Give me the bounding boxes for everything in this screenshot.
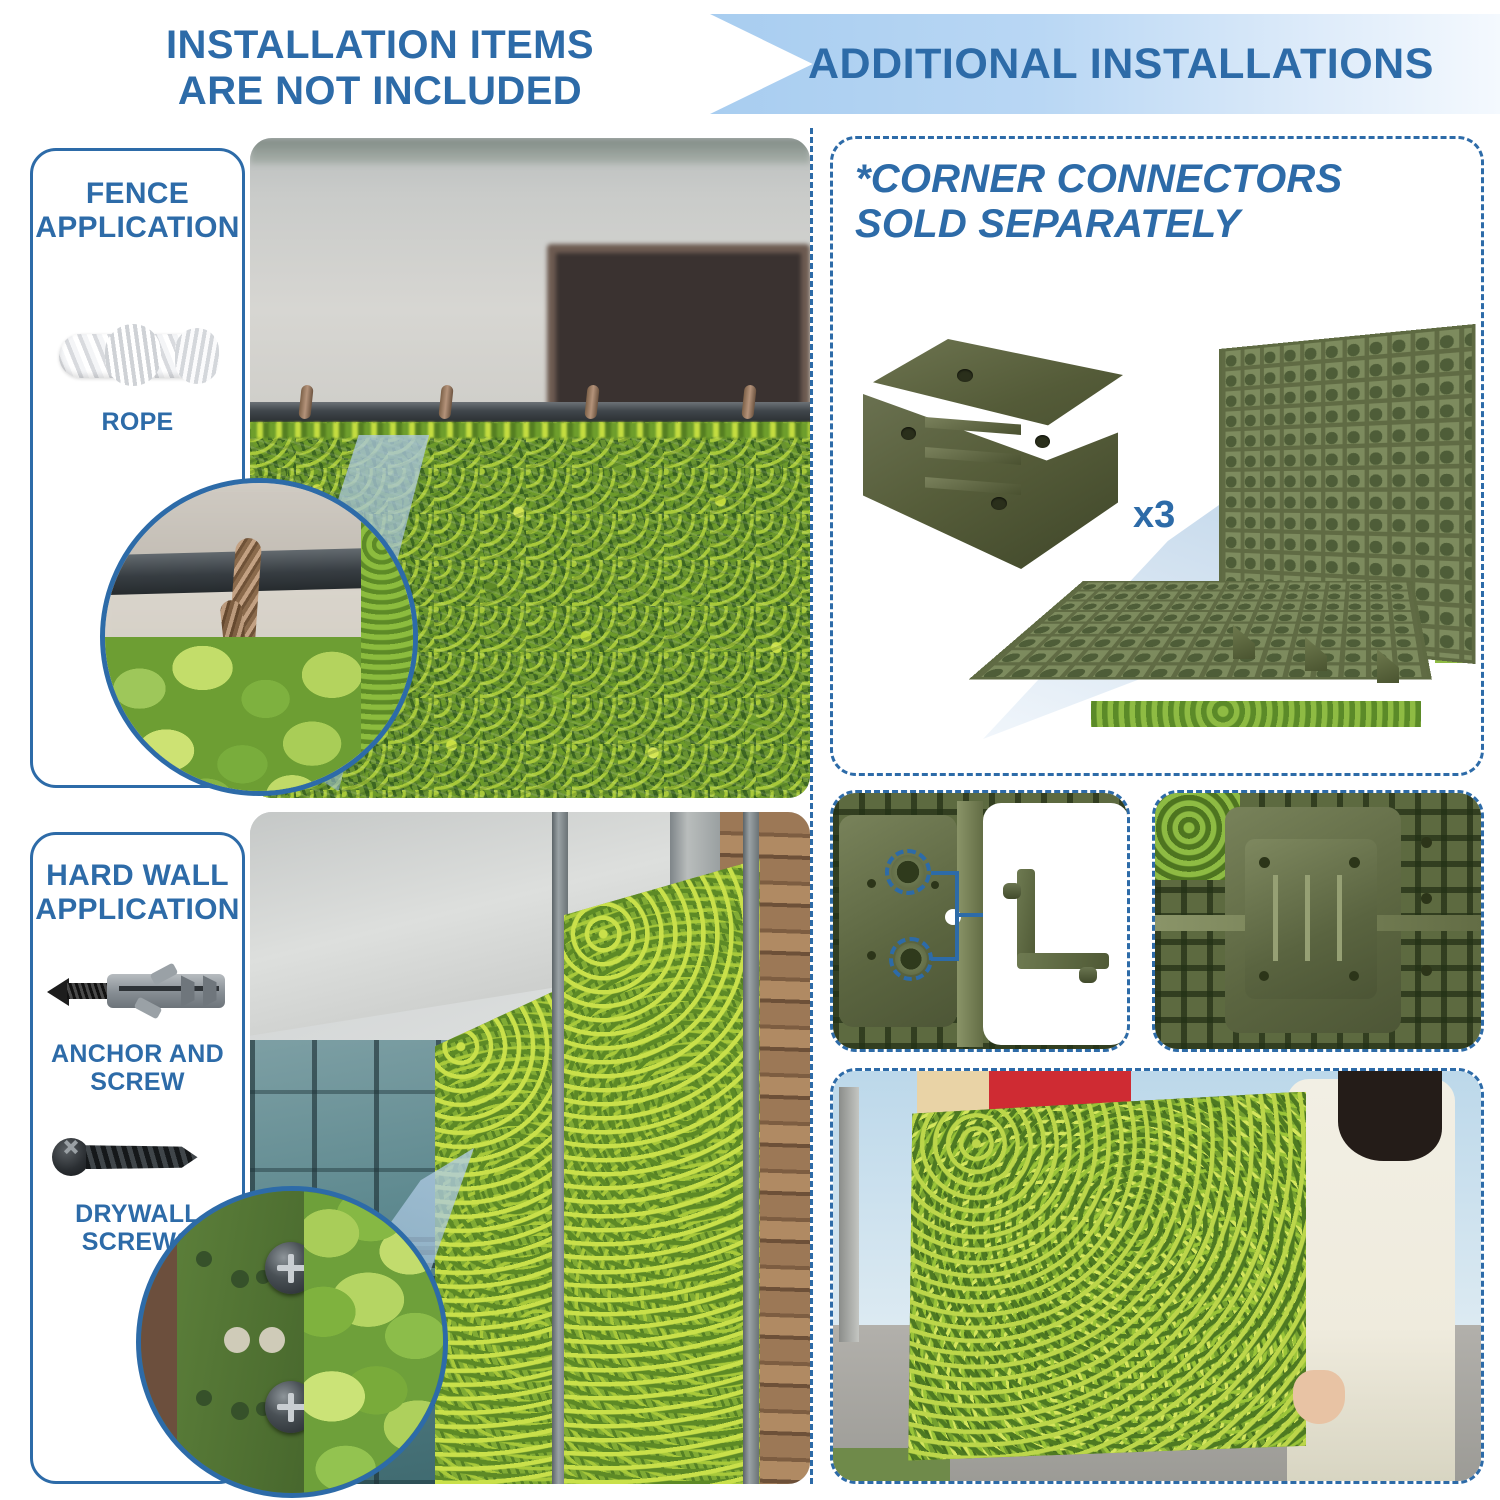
photo-carried-hedge-panel (904, 1092, 1306, 1461)
photo-person-hand (1293, 1370, 1345, 1423)
detail-b-hole-2 (1349, 857, 1360, 868)
detail-a-panel-rail (957, 801, 983, 1047)
fence-title-line1: FENCE (35, 177, 239, 211)
photo-metal-post-right (743, 812, 759, 1484)
corner-title-line2: SOLD SEPARATELY (855, 202, 1465, 247)
bracket-hole-top (957, 369, 973, 382)
banner-additional-installations: ADDITIONAL INSTALLATIONS (710, 14, 1500, 114)
detail-a-bracket-peg-top (1003, 883, 1021, 899)
anchor-and-screw-label: ANCHOR AND SCREW (51, 1040, 224, 1096)
photo-light-pole (839, 1087, 858, 1341)
connection-holes-detail-panel (830, 790, 1130, 1052)
fence-closeup-inset (100, 478, 418, 796)
detail-b-bracket-rib-1 (1273, 875, 1278, 961)
photo-top-shadow (250, 138, 810, 164)
hard-wall-title: HARD WALL APPLICATION (35, 859, 239, 926)
wall-title-line2: APPLICATION (35, 893, 239, 927)
assembly-horizontal-panel (969, 581, 1432, 679)
anchor-and-screw-icon (47, 966, 229, 1018)
inset-right-hedge-edge (361, 483, 413, 791)
banner-label: ADDITIONAL INSTALLATIONS (808, 40, 1434, 89)
corner-title-line1: *CORNER CONNECTORS (855, 157, 1465, 202)
bracket-hole-left (901, 427, 916, 440)
anchor-label-line2: SCREW (51, 1068, 224, 1096)
anchor-label-line1: ANCHOR AND (51, 1040, 224, 1068)
bracket-hole-bottom (991, 497, 1007, 510)
detail-a-white-backdrop (983, 803, 1129, 1045)
detail-b-hole-5 (1421, 837, 1432, 848)
infographic-root: INSTALLATION ITEMS ARE NOT INCLUDED ADDI… (0, 0, 1500, 1500)
fence-title-line2: APPLICATION (35, 211, 239, 245)
wall-title-line1: HARD WALL (35, 859, 239, 893)
photo-green-panel-left (435, 987, 564, 1484)
detail-a-panel-plate (839, 815, 957, 1027)
assembly-foliage-bottom-edge (1091, 701, 1421, 727)
photo-railing (250, 402, 810, 422)
inset-hole-3 (231, 1270, 249, 1288)
photo-green-panel-right (564, 859, 760, 1484)
detail-b-hole-6 (1421, 893, 1432, 904)
inset-lightdot-1 (224, 1327, 250, 1353)
detail-a-smallhole-1 (867, 879, 876, 888)
person-holding-panel-photo (830, 1068, 1484, 1484)
rope-label: ROPE (101, 408, 173, 436)
detail-a-smallhole-2 (867, 951, 876, 960)
corner-connectors-card: *CORNER CONNECTORS SOLD SEPARATELY x3 (830, 136, 1484, 776)
vertical-divider (810, 128, 813, 1484)
wall-closeup-inset (136, 1186, 448, 1498)
detail-a-smallhole-3 (931, 881, 939, 889)
detail-b-bracket-rib-3 (1337, 875, 1342, 961)
detail-b-bracket-rib-2 (1305, 875, 1310, 961)
photo-person-hair (1338, 1071, 1442, 1161)
drywall-screw-icon (52, 1134, 224, 1180)
inset-hole-5 (231, 1402, 249, 1420)
detail-a-bracket-peg-bottom (1079, 967, 1097, 983)
inset-hole-1 (196, 1251, 212, 1267)
fence-application-title: FENCE APPLICATION (35, 177, 239, 244)
page-title-line1: INSTALLATION ITEMS (60, 22, 700, 68)
bracket-hole-right (1035, 435, 1050, 448)
photo-hedge-top-edge (250, 422, 810, 438)
corner-assembly-illustration (1073, 349, 1473, 749)
detail-b-hole-1 (1259, 857, 1270, 868)
inset-wall-foliage (304, 1191, 443, 1493)
inset-hole-2 (196, 1390, 212, 1406)
detail-b-hole-4 (1349, 971, 1359, 981)
detail-a-callout-line-4 (955, 915, 959, 961)
bracket-mounted-detail-panel (1152, 790, 1484, 1052)
detail-a-bracket-horizontal-arm (1017, 953, 1109, 969)
corner-connectors-title: *CORNER CONNECTORS SOLD SEPARATELY (855, 157, 1465, 247)
page-title-installation-items: INSTALLATION ITEMS ARE NOT INCLUDED (60, 22, 700, 115)
detail-a-callout-line-2 (955, 871, 959, 919)
detail-b-hole-3 (1259, 971, 1269, 981)
page-title-line2: ARE NOT INCLUDED (60, 68, 700, 114)
detail-a-highlight-circle-bottom (889, 937, 933, 981)
rope-coil-icon (53, 312, 223, 392)
inset-lightdot-2 (259, 1327, 285, 1353)
detail-a-highlight-circle-top (885, 849, 931, 895)
detail-b-hole-7 (1421, 965, 1432, 976)
